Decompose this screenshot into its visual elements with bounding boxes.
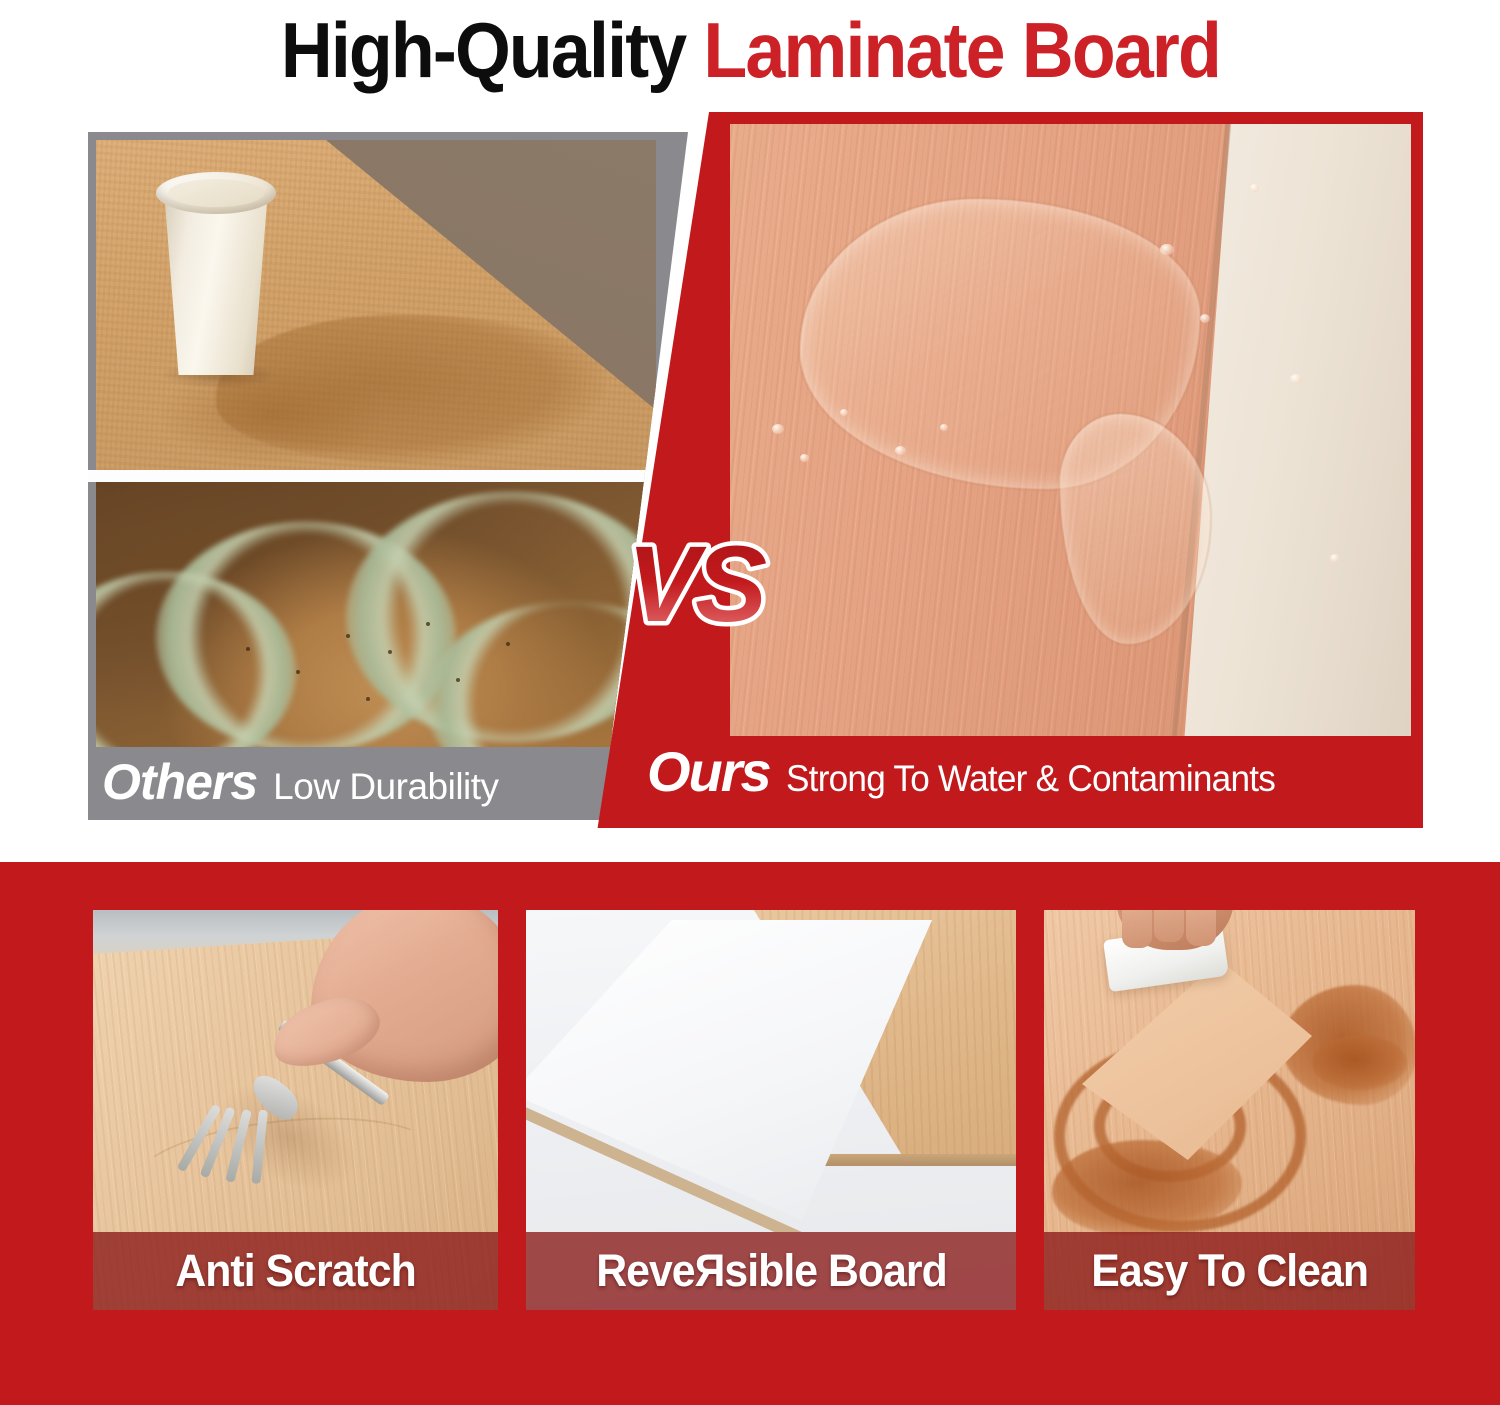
others-subtitle: Low Durability	[273, 768, 498, 805]
others-brand-label: Others	[102, 757, 257, 807]
water-droplet	[940, 424, 948, 431]
feature-label-text: Easy To Clean	[1091, 1245, 1368, 1297]
title-part-red: Laminate Board	[703, 6, 1220, 94]
vs-text: VS	[627, 523, 766, 644]
mold-speck	[388, 650, 392, 654]
feature-label-text: ReveЯsible Board	[596, 1245, 947, 1297]
cup-body	[164, 190, 268, 375]
vs-badge: VS VS	[600, 525, 790, 645]
others-caption: Others Low Durability	[102, 757, 642, 813]
mold-speck	[456, 678, 460, 682]
feature-label-band: ReveЯsible Board	[526, 1232, 1016, 1310]
features-section: Anti Scratch ReveЯsible Board	[0, 862, 1500, 1405]
others-panel: Others Low Durability	[88, 132, 688, 820]
water-droplet	[895, 446, 906, 455]
water-droplet	[1250, 184, 1259, 192]
water-droplet	[1330, 554, 1340, 563]
water-droplet	[772, 424, 784, 434]
ours-brand-label: Ours	[647, 744, 770, 800]
others-bottom-photo	[96, 482, 656, 747]
finger	[1186, 910, 1216, 946]
feature-card-easy-to-clean[interactable]: Easy To Clean	[1044, 910, 1415, 1310]
feature-card-anti-scratch[interactable]: Anti Scratch	[93, 910, 498, 1310]
page-title: High-Quality Laminate Board	[0, 0, 1500, 100]
feature-row: Anti Scratch ReveЯsible Board	[93, 910, 1415, 1310]
feature-card-reversible-board[interactable]: ReveЯsible Board	[526, 910, 1016, 1310]
water-droplet	[1160, 244, 1174, 255]
water-droplet	[800, 454, 809, 462]
water-droplet	[840, 409, 848, 416]
water-droplet	[1200, 314, 1210, 323]
ours-photo	[730, 124, 1411, 736]
feature-label-band: Easy To Clean	[1044, 1232, 1415, 1310]
mold-speck	[366, 697, 370, 701]
mold-speck	[426, 622, 430, 626]
finger	[1154, 910, 1184, 942]
mold-speck	[506, 642, 510, 646]
photo-divider	[88, 470, 688, 482]
cup-interior	[168, 179, 264, 207]
mold-speck	[246, 647, 250, 651]
paper-cup	[156, 172, 276, 377]
mold-speck	[296, 670, 300, 674]
feature-label-band: Anti Scratch	[93, 1232, 498, 1310]
feature-label-text: Anti Scratch	[175, 1245, 415, 1297]
sauce-smear	[1312, 1035, 1407, 1090]
comparison-section: Others Low Durability Ours Strong To Wat…	[0, 100, 1500, 840]
mold-speck	[346, 634, 350, 638]
ours-subtitle: Strong To Water & Contaminants	[786, 760, 1275, 797]
water-droplet	[1290, 374, 1302, 384]
ours-panel: Ours Strong To Water & Contaminants	[585, 112, 1423, 828]
title-part-black: High-Quality	[280, 6, 684, 94]
finger	[1122, 910, 1152, 948]
ours-caption: Ours Strong To Water & Contaminants	[647, 744, 1407, 804]
others-top-photo	[96, 140, 656, 470]
